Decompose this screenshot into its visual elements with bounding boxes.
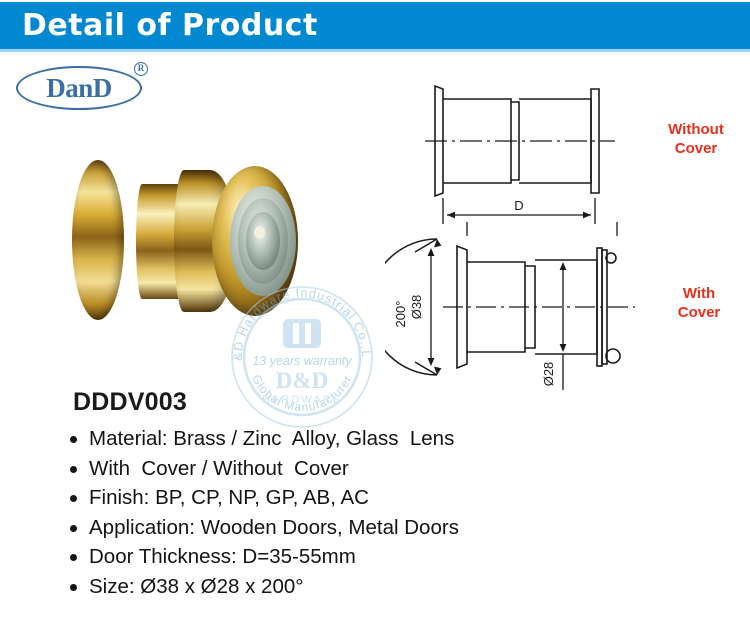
diameter-38-label: Ø38 (409, 295, 424, 320)
spec-item-size: Size: Ø38 x Ø28 x 200° (68, 572, 628, 602)
dia28-arrow-top (560, 262, 567, 270)
dia38-arrow-top (428, 248, 435, 256)
viewer-lens-highlight (254, 226, 265, 239)
viewing-angle-label: 200° (393, 301, 408, 328)
header-underline (0, 49, 750, 52)
brand-logo: DanD R (16, 60, 166, 118)
page-title: Detail of Product (0, 8, 318, 43)
product-photo (62, 140, 307, 340)
dia38-arrow-bottom (428, 358, 435, 366)
dimension-d-label: D (514, 198, 523, 213)
watermark-warranty-text: 13 years warranty (252, 354, 352, 368)
page-header-bar: Detail of Product (0, 2, 750, 49)
dim-arrow-right (583, 212, 591, 219)
registered-trademark-icon: R (134, 62, 148, 76)
label-with-cover-line1: With (656, 284, 742, 303)
diameter-28-label: Ø28 (541, 362, 556, 387)
drawing-without-cover: D (415, 72, 645, 232)
label-without-cover: Without Cover (648, 120, 744, 158)
product-spec-list: Material: Brass / Zinc Alloy, Glass Lens… (68, 424, 628, 601)
spec-item-door-thickness: Door Thickness: D=35-55mm (68, 542, 628, 572)
watermark-brand-sub-text: HARDWARE (262, 394, 342, 406)
spec-item-material: Material: Brass / Zinc Alloy, Glass Lens (68, 424, 628, 454)
dia28-arrow-bottom (560, 344, 567, 352)
spec-item-finish: Finish: BP, CP, NP, GP, AB, AC (68, 483, 628, 513)
watermark-bottom-arc-text: Global Manufacturer (249, 372, 355, 414)
product-detail-page: Detail of Product DanD R D&D Hardware In… (0, 0, 750, 638)
drawing-with-cover: 200° Ø38 Ø28 (385, 222, 655, 392)
label-with-cover-line2: Cover (656, 303, 742, 322)
logo-text: DanD (16, 66, 142, 110)
watermark-brand-text: D&D (276, 368, 328, 393)
spec-item-cover: With Cover / Without Cover (68, 454, 628, 484)
cover-hinge-bottom (606, 349, 620, 363)
spec-item-application: Application: Wooden Doors, Metal Doors (68, 513, 628, 543)
label-without-cover-line2: Cover (648, 139, 744, 158)
label-without-cover-line1: Without (648, 120, 744, 139)
dim-arrow-left (447, 212, 455, 219)
viewer-lens-core (246, 212, 280, 270)
product-model-name: DDDV003 (73, 388, 187, 417)
label-with-cover: With Cover (656, 284, 742, 322)
